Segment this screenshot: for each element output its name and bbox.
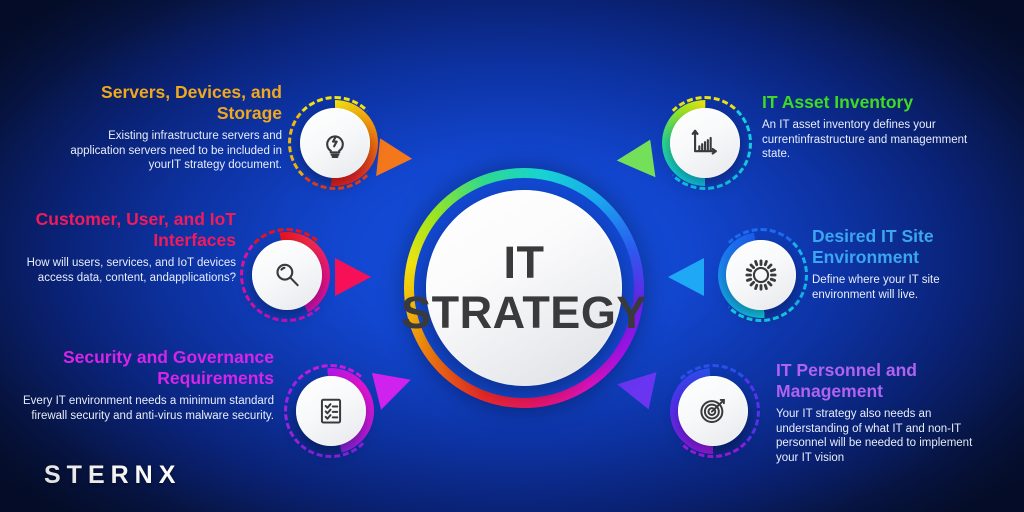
hub-disc: IT STRATEGY xyxy=(426,190,622,386)
heading-customer-user-iot-interfaces: Customer, User, and IoT Interfaces xyxy=(22,209,236,251)
body-it-asset-inventory: An IT asset inventory defines your curre… xyxy=(762,118,988,162)
text-block-security-governance-requirements: Security and Governance Requirements Eve… xyxy=(20,347,274,423)
text-block-it-asset-inventory: IT Asset Inventory An IT asset inventory… xyxy=(762,92,988,162)
text-block-desired-it-site-environment: Desired IT Site Environment Define where… xyxy=(812,226,1002,302)
heading-it-personnel-management: IT Personnel and Management xyxy=(776,360,994,402)
sternx-logo: STERNX xyxy=(44,461,181,490)
body-servers-devices-storage: Existing infrastructure servers and appl… xyxy=(60,129,282,173)
heading-desired-it-site-environment: Desired IT Site Environment xyxy=(812,226,1002,268)
node-security-governance-requirements[interactable] xyxy=(288,368,374,454)
hub-title: IT STRATEGY xyxy=(401,238,647,338)
arrow-it-personnel xyxy=(613,365,656,410)
node-it-asset-inventory[interactable] xyxy=(662,100,748,186)
lightbulb-idea-icon xyxy=(318,126,352,160)
bar-chart-growth-icon xyxy=(688,126,722,160)
checklist-clipboard-icon xyxy=(315,395,347,427)
magnifier-search-icon xyxy=(270,258,304,292)
heading-servers-devices-storage: Servers, Devices, and Storage xyxy=(60,82,282,124)
arrow-it-asset-inventory xyxy=(615,140,656,183)
heading-it-asset-inventory: IT Asset Inventory xyxy=(762,92,988,113)
heading-security-governance-requirements: Security and Governance Requirements xyxy=(20,347,274,389)
node-it-personnel-management[interactable] xyxy=(670,368,756,454)
gear-cog-icon xyxy=(743,257,779,293)
body-customer-user-iot-interfaces: How will users, services, and IoT device… xyxy=(22,256,236,285)
arrow-desired-it-site xyxy=(668,258,704,296)
arrow-security-governance xyxy=(372,364,416,410)
node-icon-wrapper xyxy=(300,108,370,178)
body-desired-it-site-environment: Define where your IT site environment wi… xyxy=(812,273,1002,302)
node-desired-it-site-environment[interactable] xyxy=(718,232,804,318)
node-icon-wrapper xyxy=(678,376,748,446)
hub-title-line2: STRATEGY xyxy=(401,288,647,338)
text-block-servers-devices-storage: Servers, Devices, and Storage Existing i… xyxy=(60,82,282,173)
text-block-it-personnel-management: IT Personnel and Management Your IT stra… xyxy=(776,360,994,465)
body-security-governance-requirements: Every IT environment needs a minimum sta… xyxy=(20,394,274,423)
target-dartboard-icon xyxy=(696,394,730,428)
node-icon-wrapper xyxy=(670,108,740,178)
node-icon-wrapper xyxy=(296,376,366,446)
hub-title-line1: IT xyxy=(401,238,647,288)
node-icon-wrapper xyxy=(726,240,796,310)
center-hub: IT STRATEGY xyxy=(404,168,644,408)
body-it-personnel-management: Your IT strategy also needs an understan… xyxy=(776,407,994,465)
node-customer-user-iot-interfaces[interactable] xyxy=(244,232,330,318)
node-icon-wrapper xyxy=(252,240,322,310)
infographic-canvas: IT STRATEGY xyxy=(0,0,1024,512)
arrow-customer-user-iot xyxy=(335,258,371,296)
node-servers-devices-storage[interactable] xyxy=(292,100,378,186)
text-block-customer-user-iot-interfaces: Customer, User, and IoT Interfaces How w… xyxy=(22,209,236,285)
